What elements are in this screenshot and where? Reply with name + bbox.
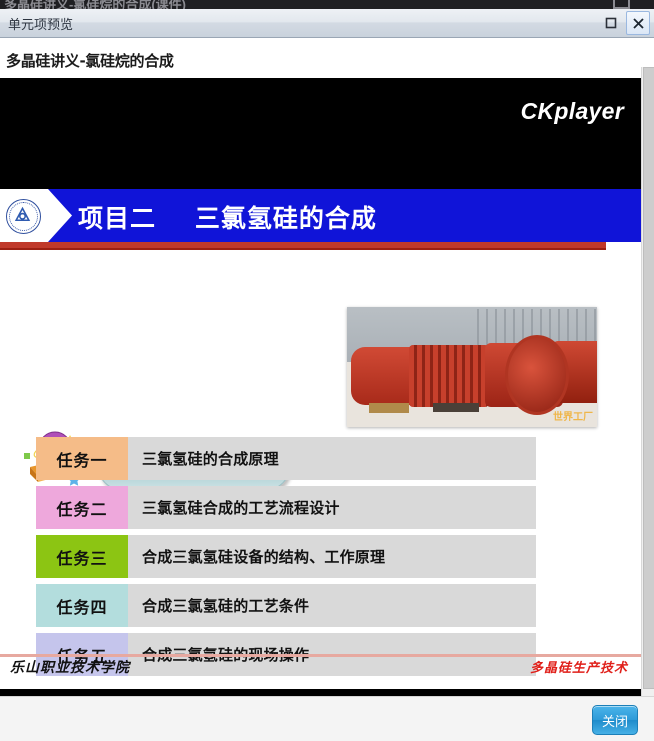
task-value-label: 三氯氢硅合成的工艺流程设计 xyxy=(128,497,340,518)
school-seal-logo xyxy=(6,199,41,234)
table-row: 任务四 合成三氯氢硅的工艺条件 xyxy=(36,584,536,627)
scrollbar-thumb[interactable] xyxy=(643,67,654,689)
table-row: 任务三 合成三氯氢硅设备的结构、工作原理 xyxy=(36,535,536,578)
slide-footer-course: 多晶硅生产技术 xyxy=(530,657,628,676)
task-key-chip: 任务二 xyxy=(36,486,128,529)
task-list: 任务一 三氯氢硅的合成原理 任务二 三氯氢硅合成的工艺流程设计 任务三 合成三氯… xyxy=(36,437,536,682)
slide-footer-institution: 乐山职业技术学院 xyxy=(10,657,130,677)
video-player-stage[interactable]: CKplayer 项目二 三氯氢硅的合成 xyxy=(0,78,642,735)
task-value-label: 合成三氯氢硅设备的结构、工作原理 xyxy=(128,546,385,567)
trichlorosilane-reactor-photo: 世界工厂 xyxy=(347,307,597,427)
task-key-chip: 任务四 xyxy=(36,584,128,627)
close-button[interactable]: 关闭 xyxy=(592,705,638,735)
photo-watermark: 世界工厂 xyxy=(553,408,593,423)
window-body: 多晶硅讲义-氯硅烷的合成 CKplayer xyxy=(0,38,654,741)
banner-title: 项目二 三氯氢硅的合成 xyxy=(78,199,377,235)
banner-project-title: 三氯氢硅的合成 xyxy=(195,204,377,233)
slide-footer: 乐山职业技术学院 多晶硅生产技术 xyxy=(0,657,642,679)
background-page-strip: 多晶硅讲义-氯硅烷的合成(课件) xyxy=(0,0,654,9)
banner-red-rule xyxy=(0,242,606,248)
task-key-label: 任务一 xyxy=(56,447,107,471)
task-value-label: 三氯氢硅的合成原理 xyxy=(128,448,279,469)
task-key-chip: 任务三 xyxy=(36,535,128,578)
window-titlebar: 单元项预览 xyxy=(0,9,654,38)
dialog-footer: 关闭 xyxy=(0,696,654,741)
vertical-scrollbar[interactable] xyxy=(641,67,654,741)
banner-project-label: 项目二 xyxy=(78,204,156,233)
window-title: 单元项预览 xyxy=(8,14,73,33)
preview-window: 单元项预览 多晶硅讲义-氯硅烷的合成 CKplayer xyxy=(0,9,654,741)
task-key-chip: 任务一 xyxy=(36,437,128,480)
close-icon[interactable] xyxy=(626,11,650,35)
table-row: 任务二 三氯氢硅合成的工艺流程设计 xyxy=(36,486,536,529)
maximize-icon[interactable] xyxy=(600,12,622,34)
slide-banner: 项目二 三氯氢硅的合成 xyxy=(0,189,642,242)
task-key-label: 任务二 xyxy=(56,496,107,520)
background-page-title: 多晶硅讲义-氯硅烷的合成(课件) xyxy=(4,0,186,9)
window-controls xyxy=(600,11,650,35)
close-button-label: 关闭 xyxy=(602,711,628,730)
table-row: 任务一 三氯氢硅的合成原理 xyxy=(36,437,536,480)
app-root: 多晶硅讲义-氯硅烷的合成(课件) 单元项预览 多晶硅讲义-氯硅烷的合成 CKpl… xyxy=(0,0,654,741)
slide-canvas: 项目二 三氯氢硅的合成 xyxy=(0,189,642,689)
document-title: 多晶硅讲义-氯硅烷的合成 xyxy=(6,50,174,71)
task-key-label: 任务三 xyxy=(56,545,107,569)
ckplayer-brand: CKplayer xyxy=(521,98,624,125)
task-key-label: 任务四 xyxy=(56,594,107,618)
task-value-label: 合成三氯氢硅的工艺条件 xyxy=(128,595,309,616)
restore-icon xyxy=(613,0,630,9)
